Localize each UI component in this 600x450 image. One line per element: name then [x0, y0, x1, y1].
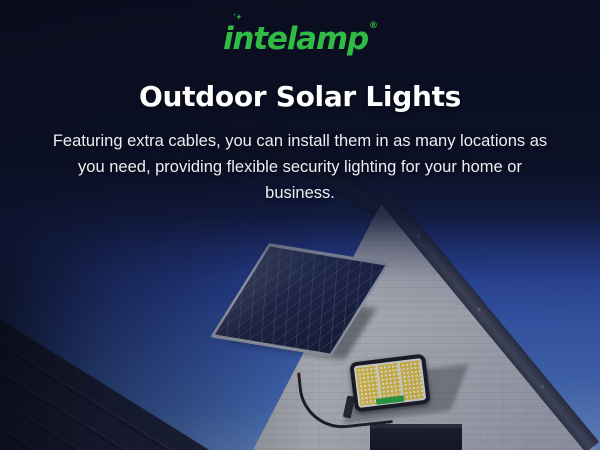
brand-logo-wordmark: intelamp	[223, 21, 368, 57]
promo-banner: intelamp® Outdoor Solar Lights Featuring…	[0, 0, 600, 450]
brand-logo-text: intelamp®	[223, 24, 377, 55]
banner-content: intelamp® Outdoor Solar Lights Featuring…	[0, 0, 600, 450]
brand-logo: intelamp®	[0, 24, 600, 55]
hero-subcopy: Featuring extra cables, you can install …	[50, 128, 550, 206]
registered-trademark-icon: ®	[369, 21, 378, 31]
page-title: Outdoor Solar Lights	[0, 80, 600, 113]
